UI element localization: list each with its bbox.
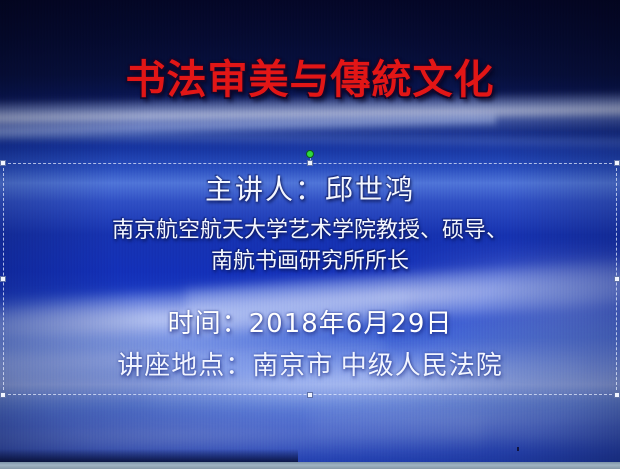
event-date-line: 时间：2018年6月29日 <box>0 303 620 340</box>
speaker-line: 主讲人：邱世鸿 <box>0 168 620 208</box>
event-venue-line: 讲座地点：南京市 中级人民法院 <box>0 345 620 382</box>
event-date-value: 2018年6月29日 <box>249 309 453 339</box>
affiliation-line-1: 南京航空航天大学艺术学院教授、硕导、 <box>0 212 620 244</box>
presentation-slide: 书法审美与傳統文化 主讲人：邱世鸿 南京航空航天大学艺术学院教授、硕导、 南航书… <box>0 0 620 469</box>
affiliation-line-2: 南航书画研究所所长 <box>0 243 620 275</box>
slide-title: 书法审美与傳統文化 <box>0 47 620 105</box>
projector-screen-edge <box>0 462 620 469</box>
event-date-label: 时间： <box>168 309 249 338</box>
screen-bottom-shadow <box>0 449 298 462</box>
screen-dust-speck <box>517 447 519 451</box>
